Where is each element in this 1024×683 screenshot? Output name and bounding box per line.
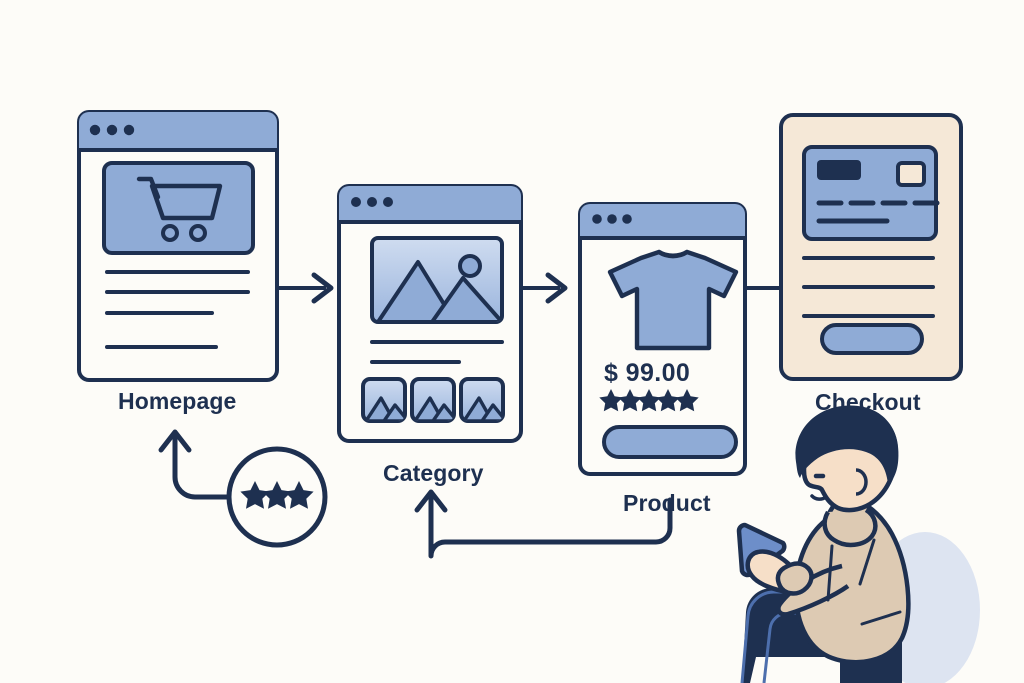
connector-rating-to-homepage bbox=[161, 432, 238, 497]
pay-button[interactable] bbox=[822, 325, 922, 353]
connector-category-to-product bbox=[521, 275, 565, 301]
product-price: $ 99.00 bbox=[604, 359, 690, 388]
thumbnail-item[interactable] bbox=[412, 379, 457, 421]
rating-badge[interactable] bbox=[229, 449, 325, 545]
add-to-cart-button[interactable] bbox=[604, 427, 736, 457]
step-label-category: Category bbox=[383, 460, 484, 487]
thumbnail-item[interactable] bbox=[363, 379, 408, 421]
step-label-product: Product bbox=[623, 490, 711, 517]
category-thumbnails[interactable] bbox=[363, 379, 506, 421]
connector-homepage-to-category bbox=[277, 275, 331, 301]
thumbnail-item[interactable] bbox=[461, 379, 506, 421]
window-dots-product bbox=[592, 214, 632, 224]
credit-card-icon bbox=[804, 147, 937, 239]
image-placeholder-icon bbox=[372, 238, 502, 322]
step-label-checkout: Checkout bbox=[815, 389, 921, 416]
flow-diagram bbox=[0, 0, 1024, 683]
card-checkout[interactable] bbox=[781, 115, 961, 379]
shopping-cart-icon bbox=[104, 163, 253, 253]
window-dots-homepage bbox=[90, 125, 134, 135]
card-category[interactable] bbox=[339, 186, 521, 441]
step-label-homepage: Homepage bbox=[118, 388, 236, 415]
card-homepage[interactable] bbox=[79, 112, 277, 380]
card-product[interactable] bbox=[580, 204, 745, 474]
person-with-phone-illustration bbox=[739, 405, 980, 683]
diagram-canvas: Homepage Category Product Checkout $ 99.… bbox=[0, 0, 1024, 683]
window-dots-category bbox=[351, 197, 393, 207]
